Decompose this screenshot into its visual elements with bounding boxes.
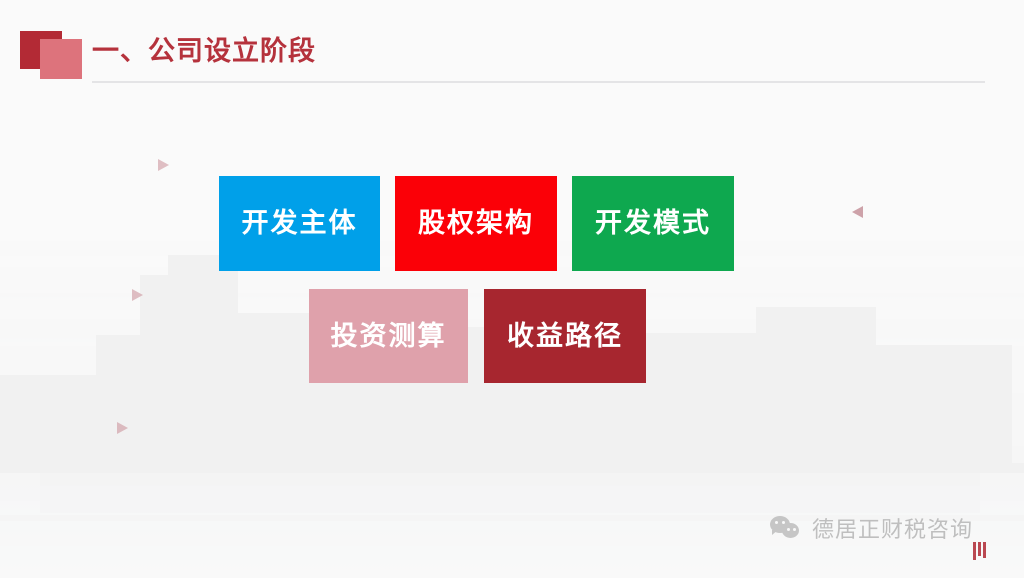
wechat-watermark: 德居正财税咨询 [770, 512, 973, 544]
title-divider [92, 81, 985, 83]
concept-box-label: 开发模式 [595, 210, 711, 237]
arrow-right-icon-1 [158, 159, 169, 171]
arrow-left-icon-4 [852, 206, 863, 218]
concept-box-label: 收益路径 [507, 323, 623, 350]
concept-box-3[interactable]: 开发模式 [572, 176, 734, 271]
arrow-right-icon-3 [117, 422, 128, 434]
concept-box-label: 股权架构 [418, 210, 534, 237]
concept-box-4[interactable]: 投资测算 [309, 289, 468, 383]
concept-box-2[interactable]: 股权架构 [395, 176, 557, 271]
arrow-right-icon-2 [132, 289, 143, 301]
red-tick-mark [973, 542, 987, 560]
header-decoration [20, 31, 90, 79]
decoration-square-front [40, 39, 82, 79]
concept-box-1[interactable]: 开发主体 [219, 176, 380, 271]
watermark-text: 德居正财税咨询 [812, 512, 973, 544]
concept-box-label: 投资测算 [331, 323, 447, 350]
presentation-slide: 一、公司设立阶段 开发主体股权架构开发模式投资测算收益路径 德居正财税咨询 [0, 0, 1024, 578]
concept-box-5[interactable]: 收益路径 [484, 289, 646, 383]
page-title: 一、公司设立阶段 [92, 38, 316, 65]
wechat-icon [770, 515, 803, 542]
concept-box-label: 开发主体 [242, 210, 358, 237]
